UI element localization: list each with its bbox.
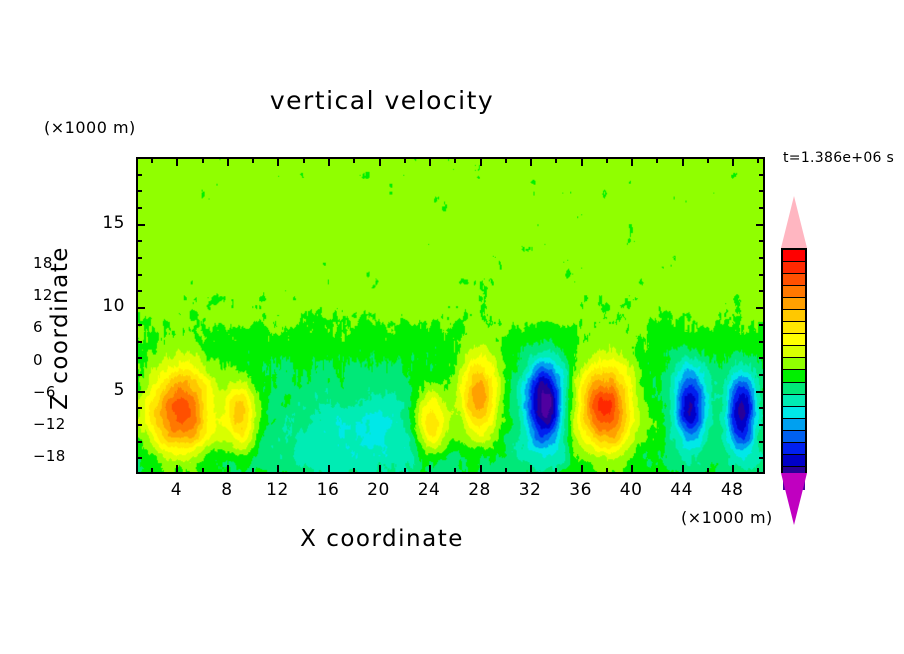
tick-mark	[656, 157, 658, 163]
colorbar-tick--12: −12	[33, 415, 66, 433]
colorbar-tick-6: 6	[33, 318, 43, 336]
tick-mark	[303, 468, 305, 474]
tick-mark	[759, 357, 765, 359]
tick-mark	[404, 157, 406, 163]
tick-mark	[759, 207, 765, 209]
tick-mark	[136, 407, 142, 409]
tick-mark	[631, 465, 633, 474]
tick-mark	[136, 274, 142, 276]
tick-mark	[227, 465, 229, 474]
colorbar-band-15	[783, 430, 805, 442]
tick-mark	[136, 357, 142, 359]
colorbar	[781, 198, 807, 523]
tick-mark	[606, 157, 608, 163]
vertical-velocity-field	[138, 159, 763, 472]
colorbar-band-8	[783, 345, 805, 357]
x-tick-label-24: 24	[409, 480, 449, 500]
colorbar-band-1	[783, 261, 805, 273]
x-tick-label-40: 40	[611, 480, 651, 500]
tick-mark	[252, 468, 254, 474]
tick-mark	[759, 324, 765, 326]
colorbar-band-2	[783, 273, 805, 285]
tick-mark	[759, 174, 765, 176]
tick-mark	[136, 441, 142, 443]
tick-mark	[136, 424, 142, 426]
tick-mark	[480, 157, 482, 166]
colorbar-over-cap	[781, 196, 807, 248]
tick-mark	[756, 391, 765, 393]
tick-mark	[759, 257, 765, 259]
tick-mark	[277, 465, 279, 474]
tick-mark	[505, 157, 507, 163]
tick-mark	[756, 307, 765, 309]
x-tick-label-8: 8	[207, 480, 247, 500]
tick-mark	[759, 341, 765, 343]
tick-mark	[606, 468, 608, 474]
tick-mark	[757, 157, 759, 163]
x-tick-label-32: 32	[510, 480, 550, 500]
tick-mark	[136, 374, 142, 376]
tick-mark	[202, 157, 204, 163]
tick-mark	[136, 307, 145, 309]
tick-mark	[682, 157, 684, 166]
tick-mark	[759, 290, 765, 292]
tick-mark	[707, 468, 709, 474]
colorbar-band-7	[783, 333, 805, 345]
colorbar-tick-0: 0	[33, 351, 43, 369]
colorbar-band-6	[783, 321, 805, 333]
tick-mark	[759, 240, 765, 242]
tick-mark	[303, 157, 305, 163]
tick-mark	[328, 157, 330, 166]
tick-mark	[353, 468, 355, 474]
tick-mark	[555, 157, 557, 163]
tick-mark	[555, 468, 557, 474]
tick-mark	[136, 224, 145, 226]
colorbar-bands	[781, 248, 807, 473]
colorbar-band-5	[783, 309, 805, 321]
x-tick-label-20: 20	[359, 480, 399, 500]
tick-mark	[252, 157, 254, 163]
colorbar-band-13	[783, 406, 805, 418]
colorbar-tick--6: −6	[33, 383, 56, 401]
x-axis-unit: (×1000 m)	[681, 508, 773, 527]
tick-mark	[227, 157, 229, 166]
plot-title: vertical velocity	[0, 86, 764, 115]
tick-mark	[530, 157, 532, 166]
tick-mark	[353, 157, 355, 163]
tick-mark	[631, 157, 633, 166]
colorbar-band-17	[783, 454, 805, 466]
tick-mark	[759, 274, 765, 276]
tick-mark	[756, 224, 765, 226]
colorbar-band-12	[783, 394, 805, 406]
colorbar-band-11	[783, 382, 805, 394]
colorbar-tick-12: 12	[33, 286, 53, 304]
y-tick-label-10: 10	[85, 296, 125, 316]
x-tick-label-12: 12	[257, 480, 297, 500]
tick-mark	[759, 441, 765, 443]
x-axis-title: X coordinate	[0, 526, 764, 552]
tick-mark	[732, 157, 734, 166]
tick-mark	[379, 157, 381, 166]
tick-mark	[136, 174, 142, 176]
tick-mark	[454, 468, 456, 474]
x-tick-label-4: 4	[156, 480, 196, 500]
tick-mark	[429, 465, 431, 474]
tick-mark	[136, 391, 145, 393]
tick-mark	[759, 424, 765, 426]
tick-mark	[530, 465, 532, 474]
tick-mark	[454, 157, 456, 163]
colorbar-band-9	[783, 357, 805, 369]
tick-mark	[759, 374, 765, 376]
tick-mark	[151, 468, 153, 474]
colorbar-under-cap	[781, 473, 807, 525]
y-axis-unit: (×1000 m)	[44, 118, 136, 137]
tick-mark	[136, 290, 142, 292]
tick-mark	[480, 465, 482, 474]
x-tick-label-48: 48	[712, 480, 752, 500]
tick-mark	[136, 341, 142, 343]
timestamp-label: t=1.386e+06 s	[783, 150, 894, 166]
tick-mark	[759, 457, 765, 459]
tick-mark	[581, 465, 583, 474]
tick-mark	[757, 468, 759, 474]
colorbar-band-16	[783, 442, 805, 454]
tick-mark	[328, 465, 330, 474]
colorbar-band-4	[783, 297, 805, 309]
tick-mark	[656, 468, 658, 474]
y-tick-label-5: 5	[85, 380, 125, 400]
tick-mark	[136, 257, 142, 259]
colorbar-band-10	[783, 369, 805, 381]
tick-mark	[277, 157, 279, 166]
x-tick-label-44: 44	[662, 480, 702, 500]
tick-mark	[136, 457, 142, 459]
tick-mark	[759, 190, 765, 192]
contour-plot-area	[136, 157, 765, 474]
colorbar-band-0	[783, 250, 805, 261]
tick-mark	[379, 465, 381, 474]
tick-mark	[136, 207, 142, 209]
tick-mark	[707, 157, 709, 163]
tick-mark	[429, 157, 431, 166]
tick-mark	[176, 465, 178, 474]
tick-mark	[176, 157, 178, 166]
tick-mark	[136, 240, 142, 242]
tick-mark	[202, 468, 204, 474]
tick-mark	[404, 468, 406, 474]
x-tick-label-36: 36	[561, 480, 601, 500]
x-tick-label-16: 16	[308, 480, 348, 500]
x-tick-label-28: 28	[460, 480, 500, 500]
tick-mark	[136, 324, 142, 326]
colorbar-tick-18: 18	[33, 254, 53, 272]
tick-mark	[759, 407, 765, 409]
tick-mark	[136, 190, 142, 192]
colorbar-band-14	[783, 418, 805, 430]
tick-mark	[151, 157, 153, 163]
colorbar-band-3	[783, 285, 805, 297]
tick-mark	[682, 465, 684, 474]
tick-mark	[505, 468, 507, 474]
colorbar-tick--18: −18	[33, 447, 66, 465]
tick-mark	[732, 465, 734, 474]
tick-mark	[581, 157, 583, 166]
y-tick-label-15: 15	[85, 213, 125, 233]
